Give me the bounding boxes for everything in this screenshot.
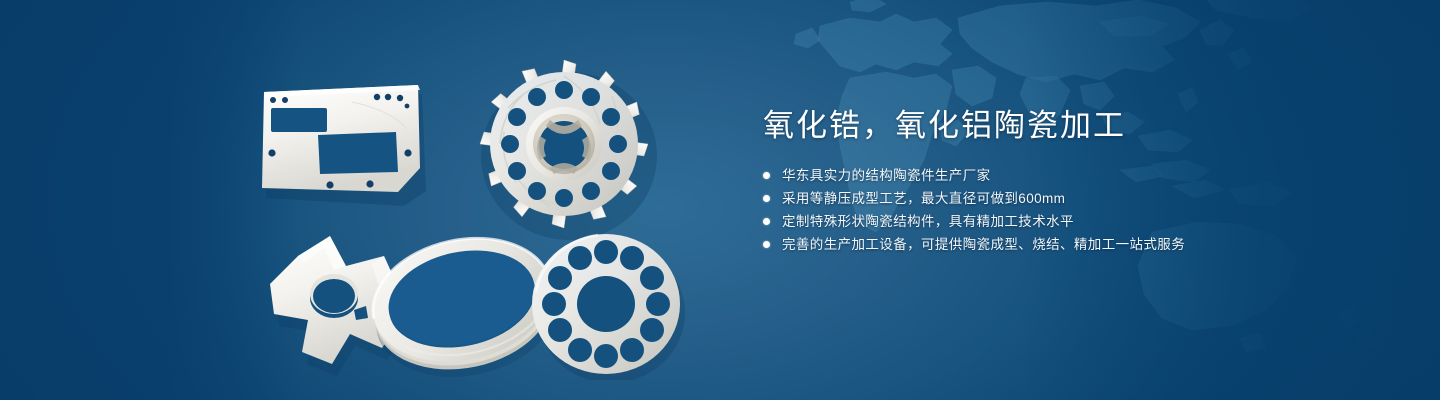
bullet-dot-icon [763,241,770,248]
list-item: 定制特殊形状陶瓷结构件，具有精加工技术水平 [763,210,1383,233]
feature-text: 完善的生产加工设备，可提供陶瓷成型、烧结、精加工一站式服务 [782,233,1185,256]
bullet-dot-icon [763,218,770,225]
promo-banner: 氧化锆，氧化铝陶瓷加工 华东具实力的结构陶瓷件生产厂家 采用等静压成型工艺，最大… [0,0,1440,400]
feature-text: 定制特殊形状陶瓷结构件，具有精加工技术水平 [782,210,1074,233]
list-item: 完善的生产加工设备，可提供陶瓷成型、烧结、精加工一站式服务 [763,233,1383,256]
bullet-dot-icon [763,172,770,179]
ceramic-products-image [240,40,690,380]
ceramic-mounting-plate-shape [262,85,426,206]
feature-text: 华东具实力的结构陶瓷件生产厂家 [782,164,991,187]
list-item: 华东具实力的结构陶瓷件生产厂家 [763,164,1383,187]
banner-copy: 氧化锆，氧化铝陶瓷加工 华东具实力的结构陶瓷件生产厂家 采用等静压成型工艺，最大… [763,104,1383,256]
ceramic-perforated-disc-shape [532,234,685,380]
bullet-dot-icon [763,195,770,202]
feature-text: 采用等静压成型工艺，最大直径可做到600mm [782,187,1065,210]
list-item: 采用等静压成型工艺，最大直径可做到600mm [763,187,1383,210]
feature-list: 华东具实力的结构陶瓷件生产厂家 采用等静压成型工艺，最大直径可做到600mm 定… [763,164,1383,256]
ceramic-impeller-shape [480,60,657,240]
page-title: 氧化锆，氧化铝陶瓷加工 [763,104,1383,148]
